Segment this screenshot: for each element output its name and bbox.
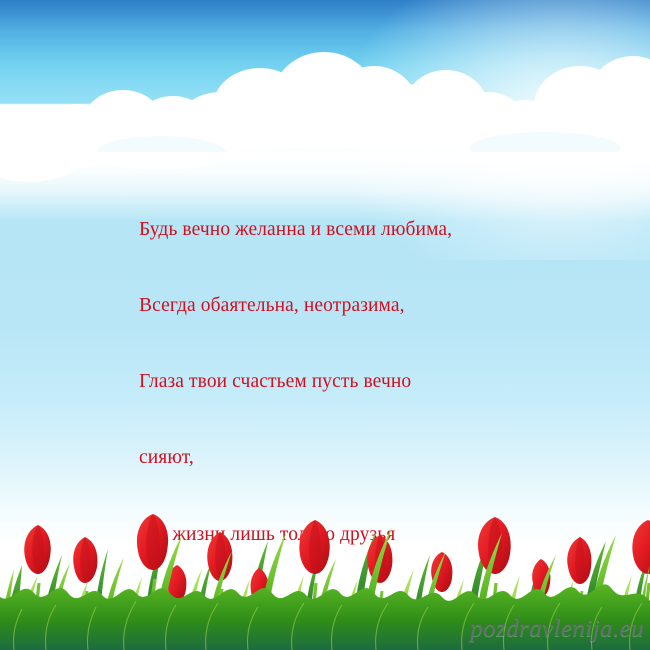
cloud-bank bbox=[0, 48, 650, 163]
greeting-card: Будь вечно желанна и всеми любима, Всегд… bbox=[0, 0, 650, 650]
greeting-line: Глаза твои счастьем пусть вечно bbox=[139, 369, 569, 394]
greeting-line: Будь вечно желанна и всеми любима, bbox=[139, 217, 569, 242]
greeting-line: Всегда обаятельна, неотразима, bbox=[139, 293, 569, 318]
greeting-line: сияют, bbox=[139, 445, 569, 470]
site-watermark: pozdravlenija.eu bbox=[470, 615, 644, 643]
